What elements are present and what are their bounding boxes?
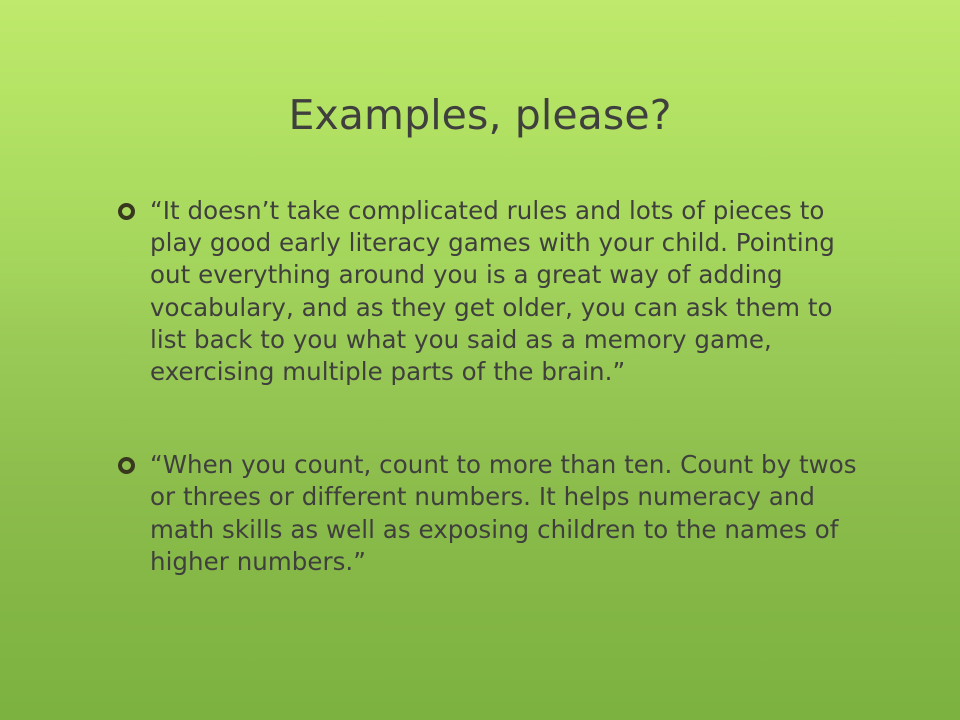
list-item-text: “When you count, count to more than ten.… [150,449,872,578]
page-title: Examples, please? [0,90,960,140]
ring-bullet-icon [118,457,135,474]
list-item: “It doesn’t take complicated rules and l… [112,195,872,388]
list-item-text: “It doesn’t take complicated rules and l… [150,195,872,388]
bullet-list: “It doesn’t take complicated rules and l… [112,195,872,578]
list-item: “When you count, count to more than ten.… [112,449,872,578]
presentation-slide: Examples, please? “It doesn’t take compl… [0,0,960,720]
ring-bullet-icon [118,203,135,220]
